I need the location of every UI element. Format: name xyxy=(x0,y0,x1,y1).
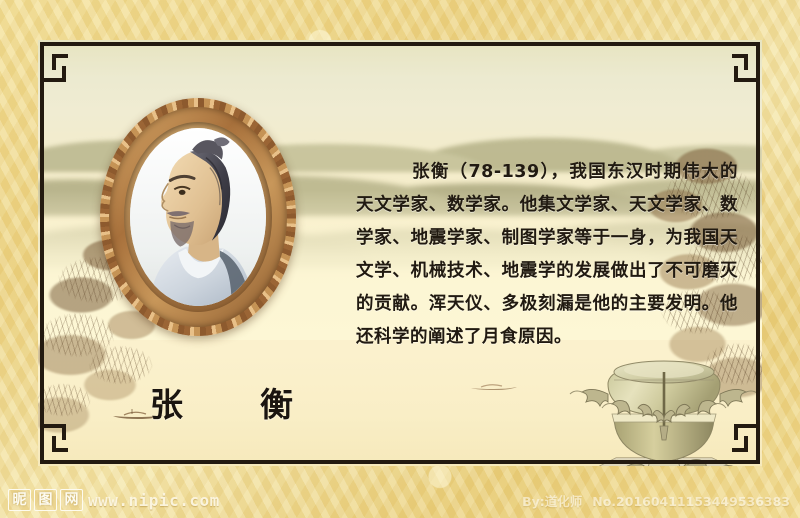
boat-right-icon xyxy=(468,378,520,392)
watermark-id: No.20160411153449536383 xyxy=(592,494,790,509)
biography-paragraph: 张衡（78-139），我国东汉时期伟大的天文学家、数学家。他集文学家、天文学家、… xyxy=(356,156,738,354)
watermark-char-1: 昵 xyxy=(8,489,31,511)
watermark-char-2: 图 xyxy=(34,489,57,511)
watermark-bar: 昵 图 网 www.nipic.com By:道化师 No.2016041115… xyxy=(0,482,800,518)
watermark-char-3: 网 xyxy=(60,489,83,511)
seismograph-illustration xyxy=(556,358,762,466)
watermark-author: By:道化师 xyxy=(522,491,582,510)
portrait-frame xyxy=(100,98,296,336)
watermark-branding: 昵 图 网 www.nipic.com xyxy=(8,489,220,511)
biography-text: 张衡（78-139），我国东汉时期伟大的天文学家、数学家。他集文学家、天文学家、… xyxy=(356,156,738,354)
page-title: 张 衡 xyxy=(150,378,315,426)
watermark-credit: By:道化师 No.20160411153449536383 xyxy=(522,491,790,510)
portrait-image-zhangheng xyxy=(130,128,266,306)
watermark-site-name-cn: 昵 图 网 xyxy=(8,489,83,511)
watermark-url: www.nipic.com xyxy=(88,491,220,510)
artwork-panel: 张衡（78-139），我国东汉时期伟大的天文学家、数学家。他集文学家、天文学家、… xyxy=(38,40,762,466)
poster-canvas: 张衡（78-139），我国东汉时期伟大的天文学家、数学家。他集文学家、天文学家、… xyxy=(0,0,800,518)
